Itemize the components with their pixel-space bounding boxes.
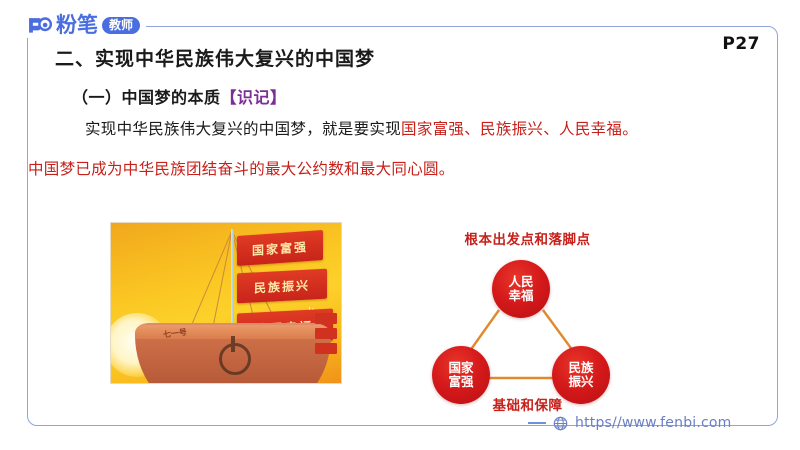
node-line-1: 人民 bbox=[508, 275, 533, 289]
paragraph-one-highlight: 国家富强、民族振兴、人民幸福。 bbox=[401, 120, 638, 138]
paragraph-one-lead: 实现中华民族伟大复兴的中国梦，就是要实现 bbox=[85, 120, 401, 138]
globe-icon bbox=[553, 416, 568, 431]
subsection-tag: 【识记】 bbox=[221, 88, 287, 107]
paragraph-two: 中国梦已成为中华民族团结奋斗的最大公约数和最大同心圆。 bbox=[28, 157, 455, 179]
core-values-triangle-diagram: 根本出发点和落脚点 人民 幸福 国家 富强 民族 振兴 基础和保障 bbox=[420, 228, 635, 418]
side-banner bbox=[315, 313, 337, 324]
section-heading: 二、实现中华民族伟大复兴的中国梦 bbox=[55, 44, 375, 71]
page-number: P27 bbox=[722, 34, 760, 54]
node-line-2: 振兴 bbox=[568, 375, 593, 389]
brand-logo: 粉笔 教师 bbox=[24, 12, 146, 38]
sail-banner: 国家富强 bbox=[237, 230, 323, 266]
subsection-heading: （一）中国梦的本质【识记】 bbox=[72, 84, 287, 108]
node-line-1: 国家 bbox=[448, 361, 473, 375]
ship-with-sails-illustration: ∨ ∨ ∨ 国家富强 民族振兴 人民幸福 七一号 bbox=[110, 222, 342, 384]
footer-divider bbox=[528, 422, 546, 424]
node-line-2: 幸福 bbox=[508, 289, 533, 303]
paragraph-one: 实现中华民族伟大复兴的中国梦，就是要实现国家富强、民族振兴、人民幸福。 bbox=[55, 117, 638, 139]
diagram-bottom-label: 基础和保障 bbox=[420, 394, 635, 414]
side-banner bbox=[315, 343, 337, 354]
slide-canvas: 粉笔 教师 P27 二、实现中华民族伟大复兴的中国梦 （一）中国梦的本质【识记】… bbox=[0, 0, 800, 450]
node-line-1: 民族 bbox=[568, 361, 593, 375]
anchor-icon bbox=[219, 343, 251, 375]
fenbi-logo-icon bbox=[26, 15, 52, 35]
subsection-heading-text: （一）中国梦的本质 bbox=[72, 88, 221, 107]
diagram-node-people-happiness: 人民 幸福 bbox=[492, 260, 550, 318]
node-line-2: 富强 bbox=[448, 375, 473, 389]
side-banner-stack bbox=[315, 313, 337, 365]
footer-url-group: https//www.fenbi.com bbox=[528, 415, 732, 431]
side-banner bbox=[315, 328, 337, 339]
brand-name: 粉笔 bbox=[56, 15, 98, 36]
footer-url-text[interactable]: https//www.fenbi.com bbox=[575, 415, 732, 431]
sail-banner: 民族振兴 bbox=[237, 269, 327, 304]
brand-badge: 教师 bbox=[102, 17, 140, 34]
